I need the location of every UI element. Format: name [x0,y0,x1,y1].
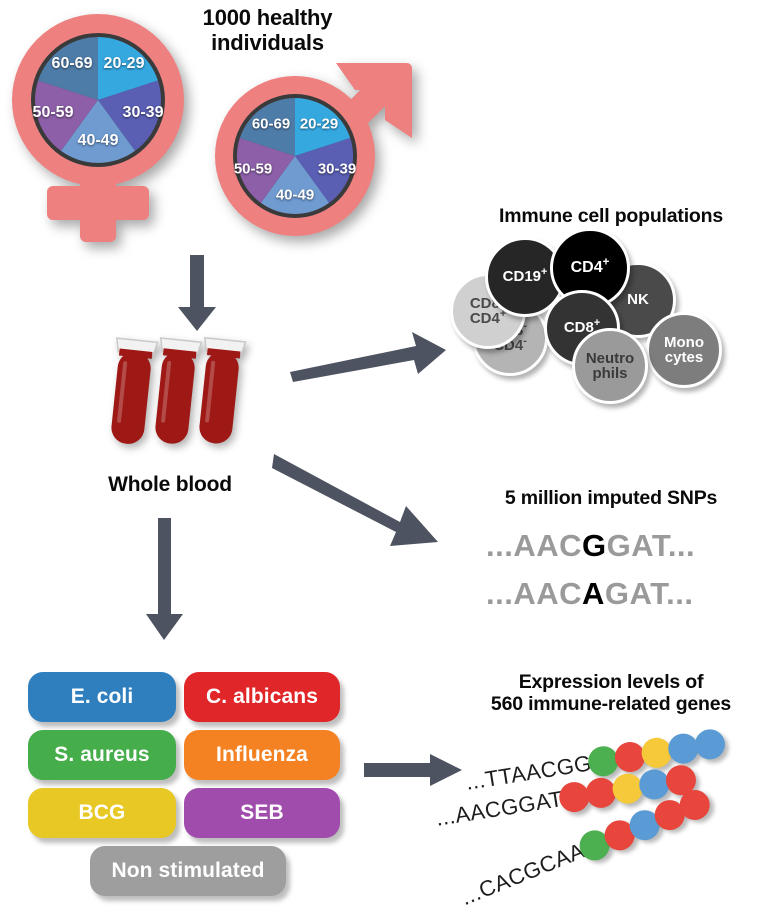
expression-strands: ...TTAACGG ...AACGGAT ...CACGCAA [452,732,771,902]
stimulus-s-aureus[interactable]: S. aureus [28,730,176,780]
stimulus-seb-label: SEB [240,801,283,825]
snp-row2-variant: A [582,576,605,611]
stimulus-bcg[interactable]: BCG [28,788,176,838]
arrow-stimuli-to-expression [364,752,464,788]
whole-blood-tubes [108,336,248,456]
female-gender-symbol: 20-29 30-39 40-49 50-59 60-69 [6,8,216,248]
whole-blood-label: Whole blood [60,473,280,497]
arrow-blood-to-stimuli [140,518,190,642]
female-symbol-svg [6,8,216,248]
stimulus-influenza-label: Influenza [216,743,308,767]
immune-populations-title: Immune cell populations [452,206,770,228]
arrow-blood-to-snp [272,452,442,552]
stimulus-c-albicans[interactable]: C. albicans [184,672,340,722]
stimulus-influenza[interactable]: Influenza [184,730,340,780]
stimulus-seb[interactable]: SEB [184,788,340,838]
immune-cell-cd19-label: CD19+ [503,269,548,284]
stimulus-non-stimulated[interactable]: Non stimulated [90,846,286,896]
immune-cell-nk-label: NK [627,292,649,307]
snp-row2-prefix: ...AAC [486,576,582,611]
male-gender-symbol: 20-29 30-39 40-49 50-59 60-69 [200,28,430,253]
snp-sequence-row-1: ...AACGGAT... [486,528,695,564]
stimulus-bcg-label: BCG [79,801,126,825]
expression-title-line2: 560 immune-related genes [452,694,770,716]
stimuli-panel: E. coli C. albicans S. aureus Influenza … [28,672,348,898]
stimulus-c-albicans-label: C. albicans [206,685,318,709]
snp-title: 5 million imputed SNPs [452,488,770,510]
snp-row2-suffix: GAT... [605,576,694,611]
immune-cell-monocytes[interactable]: Mono cytes [646,312,722,388]
immune-cell-cd4-label: CD4+ [571,260,610,276]
immune-cell-neutrophils-line1: Neutro [586,351,634,366]
snp-row1-suffix: GAT... [607,528,696,563]
snp-sequence-row-2: ...AACAGAT... [486,576,693,612]
immune-cell-cluster: NK CD8- CD4- CD8+ CD4+ CD19+ CD4+ CD8+ M… [452,240,762,420]
expression-strand-3-sequence: ...CACGCAA [457,838,588,911]
immune-cell-neutrophils-line2: phils [586,366,634,381]
expression-strand-2-sequence: ...AACGGAT [434,786,565,832]
immune-cell-cd8pos-cd4pos-line2: CD4+ [470,311,506,326]
figure-canvas: 1000 healthy individuals 20-29 30-39 40-… [0,0,771,922]
female-age-pie [35,37,161,163]
immune-cell-monocytes-line2: cytes [664,350,704,365]
male-symbol-svg [200,28,430,253]
expression-title: Expression levels of 560 immune-related … [452,672,770,716]
stimulus-e-coli-label: E. coli [71,685,134,709]
stimulus-s-aureus-label: S. aureus [54,743,149,767]
stimulus-non-stimulated-label: Non stimulated [111,859,264,883]
snp-row1-prefix: ...AAC [486,528,582,563]
snp-sequences: ...AACGGAT... ...AACAGAT... [452,528,771,620]
expression-bead [693,727,727,761]
snp-row1-variant: G [582,528,607,563]
male-age-pie [237,98,353,214]
arrow-blood-to-immune [288,330,448,382]
arrow-cohort-to-blood [172,255,222,333]
stimulus-e-coli[interactable]: E. coli [28,672,176,722]
immune-cell-monocytes-line1: Mono [664,335,704,350]
immune-cell-neutrophils[interactable]: Neutro phils [572,328,648,404]
expression-title-line1: Expression levels of [452,672,770,694]
